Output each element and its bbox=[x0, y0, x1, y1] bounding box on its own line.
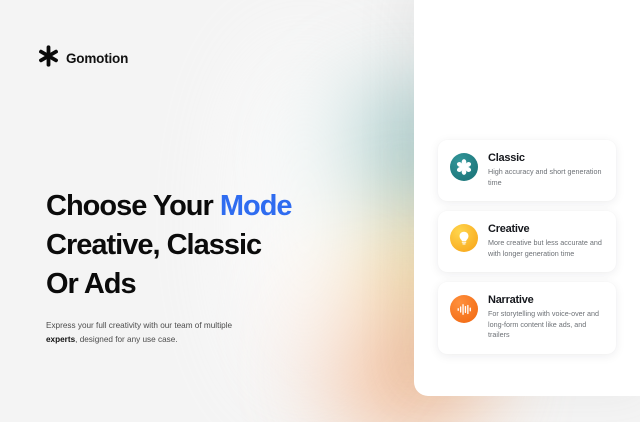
headline-line2: Creative, Classic bbox=[46, 229, 261, 261]
mode-card-description: High accuracy and short generation time bbox=[488, 167, 603, 188]
mode-card-title: Classic bbox=[488, 152, 603, 165]
mode-card-title: Narrative bbox=[488, 294, 603, 307]
mode-card-list: Classic High accuracy and short generati… bbox=[438, 140, 616, 354]
mode-card-narrative[interactable]: Narrative For storytelling with voice-ov… bbox=[438, 282, 616, 354]
brand-logo[interactable]: Gomotion bbox=[38, 45, 128, 72]
mode-card-creative[interactable]: Creative More creative but less accurate… bbox=[438, 211, 616, 272]
landing-page: Gomotion Choose Your Mode Creative, Clas… bbox=[0, 0, 640, 422]
brand-name: Gomotion bbox=[66, 51, 128, 66]
headline-line1-prefix: Choose Your bbox=[46, 190, 220, 222]
subtitle-part2: , designed for any use case. bbox=[75, 335, 177, 344]
headline-accent-word: Mode bbox=[220, 190, 292, 222]
mode-card-title: Creative bbox=[488, 223, 603, 236]
star-flower-icon bbox=[450, 153, 478, 181]
subtitle-part1: Express your full creativity with our te… bbox=[46, 321, 232, 330]
headline-line3: Or Ads bbox=[46, 268, 136, 300]
asterisk-icon bbox=[38, 45, 59, 72]
mode-card-description: For storytelling with voice-over and lon… bbox=[488, 309, 603, 341]
page-subtitle: Express your full creativity with our te… bbox=[46, 319, 261, 347]
waveform-icon bbox=[450, 295, 478, 323]
mode-card-classic[interactable]: Classic High accuracy and short generati… bbox=[438, 140, 616, 201]
page-title: Choose Your Mode Creative, Classic Or Ad… bbox=[46, 187, 346, 304]
mode-card-description: More creative but less accurate and with… bbox=[488, 238, 603, 259]
subtitle-strong: experts bbox=[46, 335, 75, 344]
lightbulb-icon bbox=[450, 224, 478, 252]
